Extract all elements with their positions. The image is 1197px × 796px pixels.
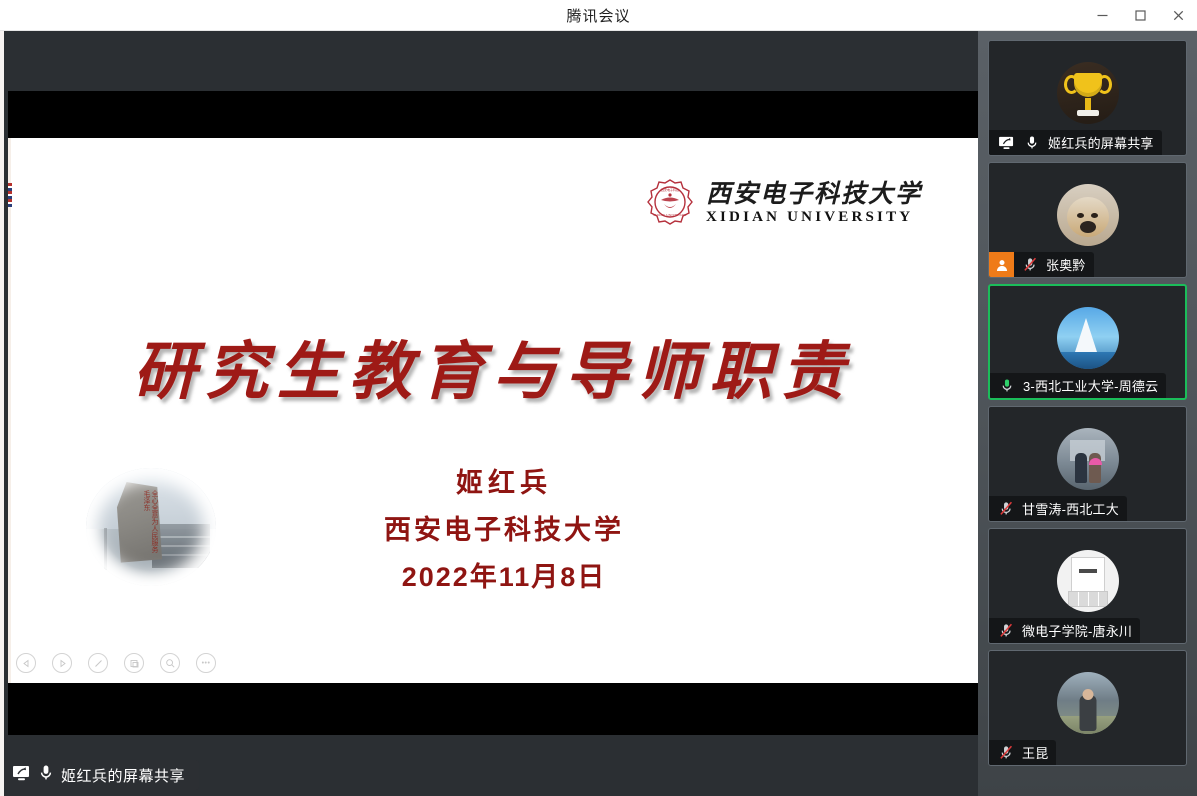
next-slide-button[interactable] [52, 653, 72, 673]
tencent-meeting-window: 腾讯会议 [0, 0, 1197, 796]
ellipsis-icon: ••• [202, 660, 211, 667]
stage-left-edge [0, 31, 4, 796]
avatar [1057, 672, 1119, 734]
tile-label: 王昆 [989, 740, 1056, 765]
minimize-button[interactable] [1083, 0, 1121, 31]
maximize-button[interactable] [1121, 0, 1159, 31]
slide-title: 研究生教育与导师职责 [8, 321, 978, 412]
avatar [1057, 307, 1119, 369]
photo-stone: 全心全意为人民服务 毛泽东 [116, 482, 164, 566]
tile-label: 微电子学院-唐永川 [989, 618, 1140, 643]
tile-label: 张奥黔 [989, 252, 1094, 277]
presenter-organization: 西安电子科技大学 [326, 510, 682, 552]
title-bar: 腾讯会议 [0, 0, 1197, 31]
slide-accent-mark [8, 183, 12, 207]
university-logo-text: 西安电子科技大学 XIDIAN UNIVERSITY [706, 182, 922, 226]
tile-label: 甘雪涛-西北工大 [989, 496, 1127, 521]
participant-tile[interactable]: 张奥黔 [988, 162, 1187, 278]
window-controls [1083, 0, 1197, 31]
participant-tile[interactable]: 王昆 [988, 650, 1187, 766]
pen-tool-button[interactable] [88, 653, 108, 673]
powerpoint-presenter-toolbar[interactable]: ••• [16, 653, 216, 673]
screen-share-icon [12, 765, 31, 786]
mic-on-icon [1022, 135, 1042, 150]
letterbox-bottom [8, 683, 978, 735]
more-options-button[interactable]: ••• [196, 653, 216, 673]
slide-grid-button[interactable] [124, 653, 144, 673]
presenter-block: 姬红兵 西安电子科技大学 2022年11月8日 [326, 463, 682, 599]
presentation-date: 2022年11月8日 [326, 557, 682, 599]
tile-label: 姬红兵的屏幕共享 [989, 130, 1162, 155]
stage-share-label-text: 姬红兵的屏幕共享 [61, 765, 185, 786]
stage-share-status-label: 姬红兵的屏幕共享 [4, 760, 199, 790]
magnifier-icon [165, 658, 176, 669]
university-seal-icon: XIDIAN UNIVERSITY 西安电子科技 [644, 178, 696, 230]
mic-muted-icon [996, 501, 1016, 516]
window-title: 腾讯会议 [566, 5, 630, 26]
grid-icon [129, 658, 140, 669]
mic-speaking-icon [997, 378, 1017, 393]
participant-tile[interactable]: 微电子学院-唐永川 [988, 528, 1187, 644]
letterbox-top [8, 91, 978, 138]
mic-muted-icon [1020, 257, 1040, 272]
shared-screen-stage[interactable]: XIDIAN UNIVERSITY 西安电子科技 西安电子科技大学 XIDIAN… [0, 31, 978, 796]
chevron-left-icon [22, 659, 31, 668]
close-icon [1172, 9, 1185, 22]
monument-inscription: 全心全意为人民服务 毛泽东 [122, 490, 159, 558]
maximize-icon [1134, 9, 1147, 22]
mic-muted-icon [996, 745, 1016, 760]
screen-share-icon [996, 136, 1016, 150]
pen-icon [93, 658, 104, 669]
participant-tile[interactable]: 3-西北工业大学-周德云 [988, 284, 1187, 400]
university-name-cn: 西安电子科技大学 [706, 182, 922, 208]
previous-slide-button[interactable] [16, 653, 36, 673]
participant-name: 甘雪涛-西北工大 [1022, 499, 1119, 518]
participant-tile[interactable]: 姬红兵的屏幕共享 [988, 40, 1187, 156]
presenter-name: 姬红兵 [326, 463, 682, 504]
avatar [1057, 428, 1119, 490]
tile-label: 3-西北工业大学-周德云 [990, 373, 1166, 398]
campus-monument-photo: 全心全意为人民服务 毛泽东 [86, 468, 216, 586]
participant-name: 张奥黔 [1046, 255, 1086, 274]
participant-name: 3-西北工业大学-周德云 [1023, 376, 1158, 395]
participant-sidebar[interactable]: 姬红兵的屏幕共享 [978, 31, 1197, 796]
zoom-tool-button[interactable] [160, 653, 180, 673]
mic-muted-icon [996, 623, 1016, 638]
participant-tile[interactable]: 甘雪涛-西北工大 [988, 406, 1187, 522]
powerpoint-slide: XIDIAN UNIVERSITY 西安电子科技 西安电子科技大学 XIDIAN… [8, 138, 978, 683]
photo-pole [104, 528, 107, 570]
mic-on-icon [39, 764, 53, 786]
svg-text:西安电子科技: 西安电子科技 [661, 187, 679, 192]
chevron-right-icon [58, 659, 67, 668]
participant-name: 微电子学院-唐永川 [1022, 621, 1132, 640]
avatar [1057, 184, 1119, 246]
participant-tile-list: 姬红兵的屏幕共享 [988, 40, 1187, 772]
avatar [1057, 62, 1119, 124]
participant-name: 王昆 [1022, 743, 1048, 762]
close-button[interactable] [1159, 0, 1197, 31]
university-logo: XIDIAN UNIVERSITY 西安电子科技 西安电子科技大学 XIDIAN… [644, 178, 922, 230]
avatar [1057, 550, 1119, 612]
minimize-icon [1096, 9, 1109, 22]
host-badge-icon [989, 252, 1014, 277]
university-name-en: XIDIAN UNIVERSITY [706, 209, 913, 226]
participant-name: 姬红兵的屏幕共享 [1048, 133, 1154, 152]
svg-text:XIDIAN UNIVERSITY: XIDIAN UNIVERSITY [653, 213, 688, 217]
